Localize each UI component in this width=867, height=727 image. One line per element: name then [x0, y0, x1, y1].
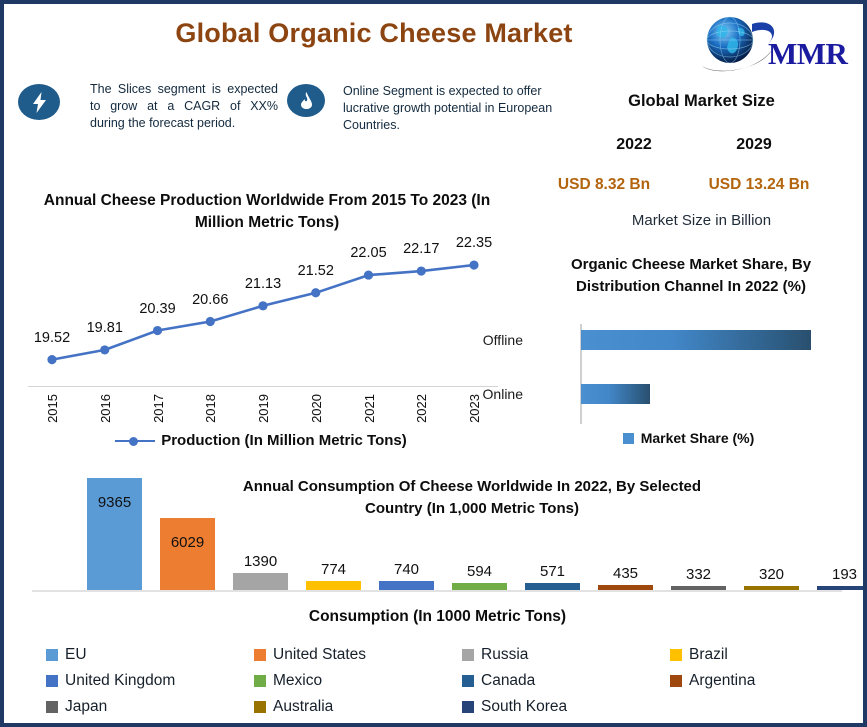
market-size-subtitle: Market Size in Billion [584, 212, 819, 229]
consumption-data-label: 320 [759, 566, 784, 583]
consumption-data-label: 774 [321, 561, 346, 578]
legend-item[interactable]: United States [254, 646, 462, 664]
market-size-forecast-year: 2029 [709, 136, 799, 154]
legend-swatch-icon [46, 675, 58, 687]
consumption-bar[interactable] [379, 581, 434, 590]
dist-bar-row [581, 330, 811, 350]
consumption-bar[interactable] [233, 573, 288, 590]
consumption-data-label: 571 [540, 563, 565, 580]
legend-label: Argentina [689, 672, 755, 690]
page-title: Global Organic Cheese Market [64, 18, 684, 49]
line-data-label: 21.52 [298, 263, 334, 279]
market-size-title: Global Market Size [584, 92, 819, 111]
market-size-forecast-value: USD 13.24 Bn [694, 176, 824, 194]
x-tick-label: 2019 [256, 394, 271, 423]
legend-label: South Korea [481, 698, 567, 716]
x-tick-label: 2023 [467, 394, 482, 423]
x-tick-label: 2021 [362, 394, 377, 423]
line-data-label: 22.35 [456, 235, 492, 251]
x-tick-label: 2016 [98, 394, 113, 423]
legend-item[interactable]: Canada [462, 672, 670, 690]
legend-label: Mexico [273, 672, 322, 690]
legend-item[interactable]: South Korea [462, 698, 670, 716]
legend-label: Russia [481, 646, 528, 664]
line-chart-legend: Production (In Million Metric Tons) [12, 432, 510, 449]
x-axis-line [28, 386, 498, 387]
legend-item[interactable]: Australia [254, 698, 462, 716]
legend-label: Japan [65, 698, 107, 716]
legend-swatch-icon [254, 701, 266, 713]
market-size-base-year: 2022 [589, 136, 679, 154]
legend-swatch-icon [462, 701, 474, 713]
legend-swatch-icon [623, 433, 634, 444]
x-tick-label: 2020 [309, 394, 324, 423]
line-data-label: 20.66 [192, 292, 228, 308]
logo-text: MMR [768, 36, 847, 72]
infographic-canvas: Global Organic Cheese Market [0, 0, 867, 727]
legend-item[interactable]: Mexico [254, 672, 462, 690]
lightning-bolt-icon [18, 84, 60, 120]
x-tick-label: 2017 [151, 394, 166, 423]
callout-text: Online Segment is expected to offer lucr… [343, 83, 571, 134]
flame-icon [287, 84, 325, 117]
x-axis-baseline [32, 590, 842, 592]
legend-label: Market Share (%) [641, 430, 755, 446]
legend-item[interactable]: EU [46, 646, 254, 664]
line-data-label: 22.05 [350, 245, 386, 261]
legend-swatch-icon [46, 701, 58, 713]
dist-chart-plot-area: OfflineOnline [581, 326, 811, 421]
legend-label: United Kingdom [65, 672, 175, 690]
legend-item[interactable]: Russia [462, 646, 670, 664]
dist-chart-legend: Market Share (%) [516, 430, 861, 446]
legend-label: Australia [273, 698, 333, 716]
legend-swatch-icon [254, 675, 266, 687]
legend-item[interactable]: Japan [46, 698, 254, 716]
legend-swatch-icon [46, 649, 58, 661]
callout-online-segment: Online Segment is expected to offer lucr… [287, 84, 572, 160]
line-data-label: 20.39 [139, 301, 175, 317]
consumption-data-label: 9365 [98, 494, 131, 511]
legend-label: EU [65, 646, 87, 664]
consumption-data-label: 193 [832, 566, 857, 583]
legend-item[interactable]: Argentina [670, 672, 836, 690]
line-data-label: 19.52 [34, 330, 70, 346]
legend-swatch-icon [670, 649, 682, 661]
legend-item[interactable]: United Kingdom [46, 672, 254, 690]
line-data-label: 19.81 [87, 320, 123, 336]
consumption-bar[interactable] [160, 518, 215, 590]
mmr-logo: MMR [690, 10, 862, 80]
legend-line-marker-icon [115, 435, 155, 447]
callout-slices-segment: The Slices segment is expected to grow a… [18, 84, 278, 160]
legend-swatch-icon [462, 649, 474, 661]
legend-label: United States [273, 646, 366, 664]
x-tick-label: 2022 [414, 394, 429, 423]
line-data-label: 21.13 [245, 276, 281, 292]
consumption-data-label: 435 [613, 565, 638, 582]
legend-item[interactable]: Brazil [670, 646, 836, 664]
consumption-bar[interactable] [306, 581, 361, 590]
legend-swatch-icon [462, 675, 474, 687]
line-data-label: 22.17 [403, 241, 439, 257]
country-legend: EUUnited StatesRussiaBrazilUnited Kingdo… [46, 642, 836, 724]
callout-text: The Slices segment is expected to grow a… [90, 81, 278, 132]
legend-label: Brazil [689, 646, 728, 664]
consumption-data-label: 1390 [244, 553, 277, 570]
axis-title: Consumption (In 1000 Metric Tons) [12, 608, 863, 626]
legend-swatch-icon [254, 649, 266, 661]
line-chart-plot-area: 19.5219.8120.3920.6621.1321.5222.0522.17… [28, 238, 498, 383]
bar-chart-distribution-channel: Organic Cheese Market Share, By Distribu… [516, 254, 861, 459]
consumption-data-label: 594 [467, 563, 492, 580]
consumption-plot-area: 936560291390774740594571435332320193 [32, 478, 842, 590]
consumption-data-label: 332 [686, 566, 711, 583]
line-series-svg [28, 238, 498, 383]
consumption-bar[interactable] [452, 583, 507, 590]
legend-swatch-icon [670, 675, 682, 687]
dist-category-label: Online [483, 384, 523, 404]
legend-label: Canada [481, 672, 535, 690]
dist-bar[interactable] [581, 330, 811, 350]
line-chart-cheese-production: Annual Cheese Production Worldwide From … [12, 190, 510, 456]
consumption-bar[interactable] [525, 583, 580, 590]
chart-title: Organic Cheese Market Share, By Distribu… [536, 254, 846, 298]
chart-title: Annual Cheese Production Worldwide From … [32, 190, 502, 234]
consumption-data-label: 6029 [171, 534, 204, 551]
consumption-data-label: 740 [394, 561, 419, 578]
legend-label: Production (In Million Metric Tons) [161, 432, 407, 449]
x-tick-label: 2018 [203, 394, 218, 423]
dist-category-label: Offline [483, 330, 523, 350]
dist-bar-row [581, 384, 811, 404]
bar-chart-country-consumption: Annual Consumption Of Cheese Worldwide I… [12, 464, 863, 636]
x-tick-label: 2015 [45, 394, 60, 423]
market-size-base-value: USD 8.32 Bn [544, 176, 664, 194]
dist-bar[interactable] [581, 384, 650, 404]
